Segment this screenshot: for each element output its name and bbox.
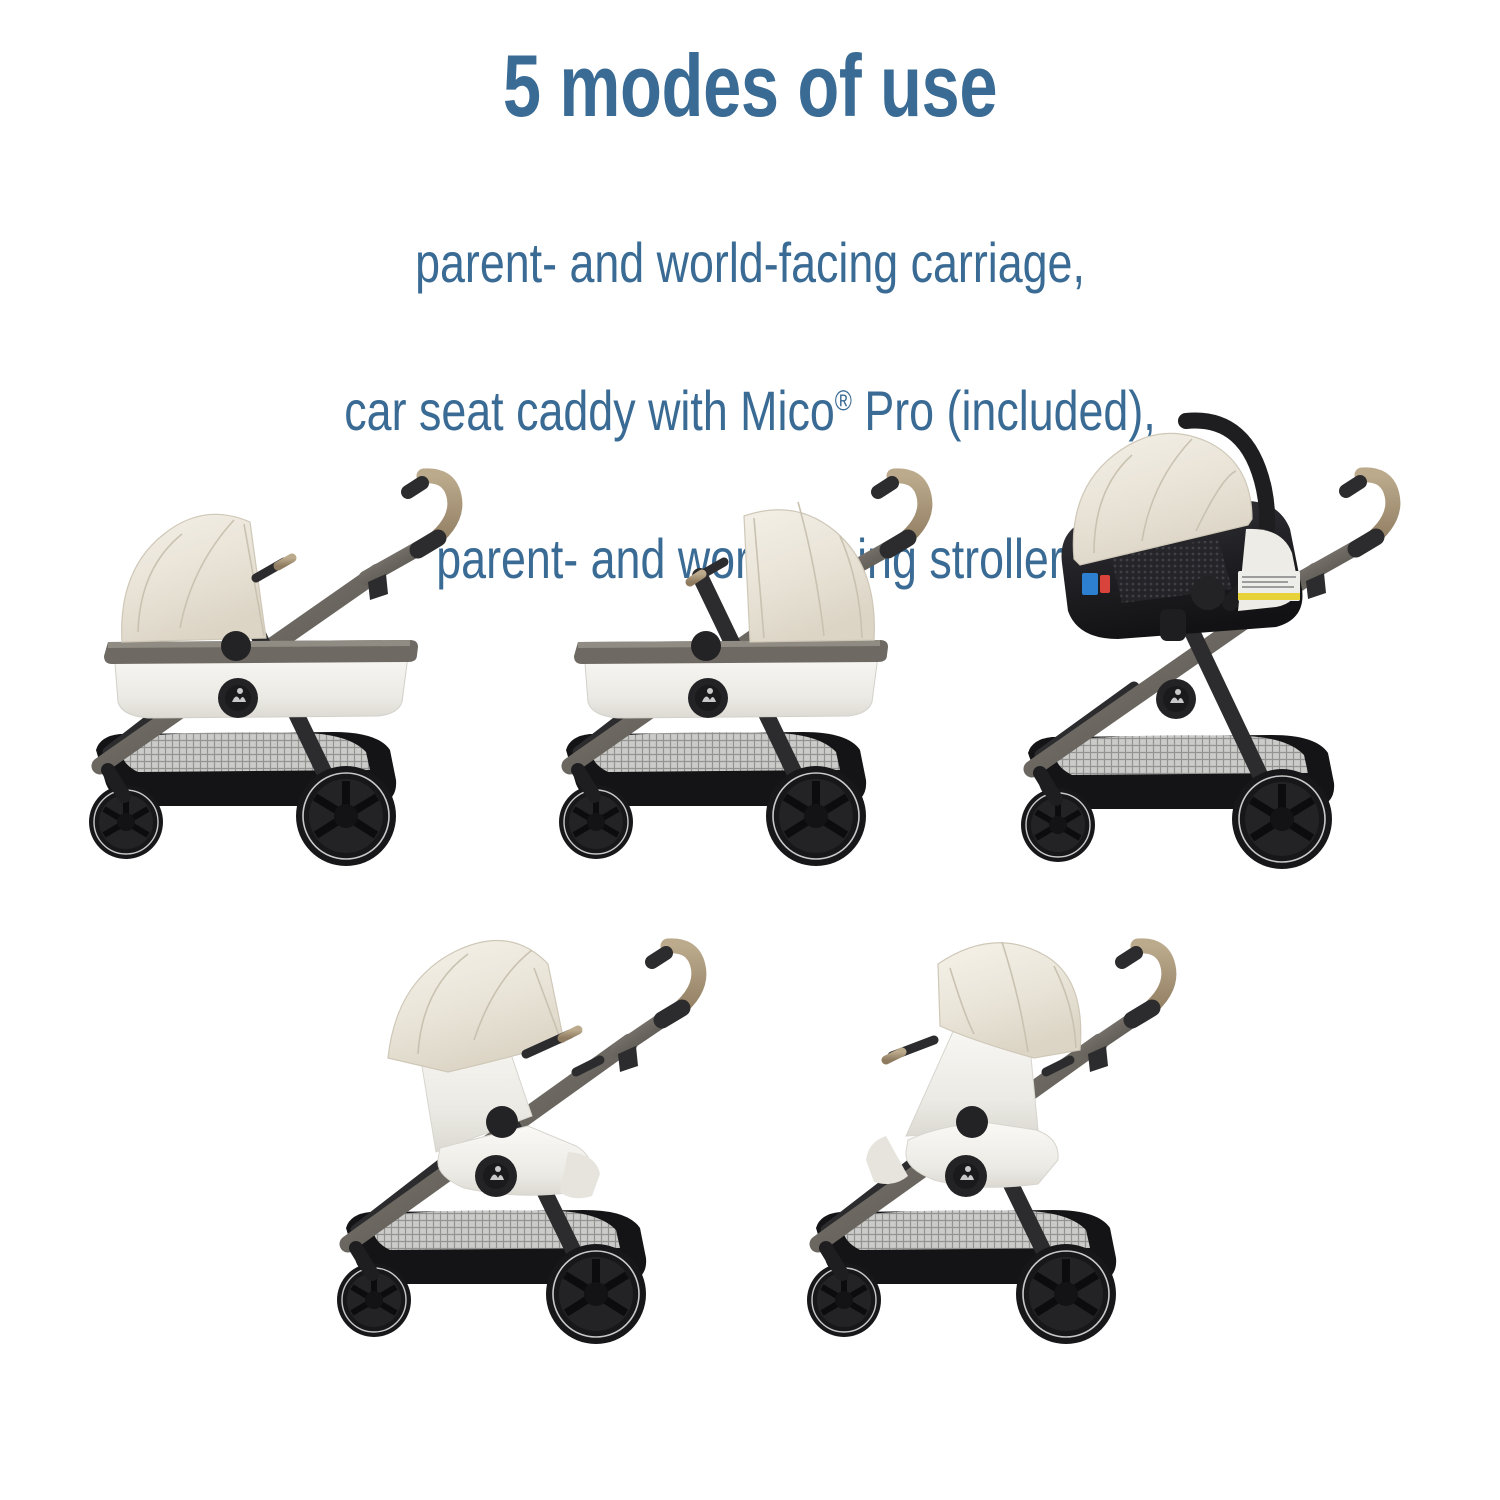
product-cell-world-facing-carriage bbox=[548, 450, 938, 870]
basket-mesh-panel bbox=[843, 1210, 1090, 1250]
car-seat-label-blue bbox=[1082, 573, 1098, 595]
rear-wheel bbox=[1232, 769, 1332, 869]
handle-clamp bbox=[418, 538, 438, 550]
canopy bbox=[744, 510, 874, 642]
car-seat-warning-stripe bbox=[1238, 593, 1300, 600]
product-cell-parent-facing-carriage bbox=[78, 450, 468, 870]
stroller-illustration-parent-facing-stroller bbox=[318, 930, 718, 1355]
bumper-bar-grip bbox=[886, 1052, 902, 1060]
product-cell-car-seat-caddy bbox=[1010, 413, 1410, 873]
rear-wheel bbox=[1016, 1244, 1116, 1344]
basket-mesh-panel bbox=[591, 732, 840, 772]
handle-clamp bbox=[888, 538, 908, 550]
basket-mesh-panel bbox=[373, 1210, 620, 1250]
handle-clamp bbox=[1356, 537, 1376, 549]
page-title: 5 modes of use bbox=[165, 0, 1335, 130]
stroller-illustration-parent-facing-carriage bbox=[78, 450, 468, 870]
stroller-illustration-car-seat-caddy bbox=[1010, 413, 1410, 873]
rear-wheel bbox=[766, 766, 866, 866]
car-seat-label-red bbox=[1100, 575, 1110, 593]
maxi-cosi-logo-dot bbox=[1175, 689, 1181, 695]
upper-hub-joint bbox=[486, 1106, 518, 1138]
upper-hub-joint bbox=[956, 1106, 988, 1138]
product-feature-graphic: 5 modes of use parent- and world-facing … bbox=[0, 0, 1500, 1500]
subtitle-line-1: parent- and world-facing carriage, bbox=[415, 231, 1085, 294]
stroller-illustration-world-facing-carriage bbox=[548, 450, 938, 870]
basket-mesh-panel bbox=[121, 732, 370, 772]
handle-clamp bbox=[1132, 1008, 1152, 1020]
product-cell-world-facing-stroller bbox=[788, 930, 1188, 1355]
maxi-cosi-logo-dot bbox=[495, 1166, 501, 1172]
upper-hub-joint bbox=[1191, 576, 1225, 610]
handle-end-cap bbox=[1122, 953, 1136, 962]
seat-footrest bbox=[866, 1136, 908, 1184]
product-cell-parent-facing-stroller bbox=[318, 930, 718, 1355]
bumper-bar-grip bbox=[562, 1030, 578, 1038]
canopy bbox=[122, 514, 266, 642]
car-seat-adapter-clamp bbox=[1160, 609, 1186, 641]
rear-wheel bbox=[546, 1244, 646, 1344]
upper-hub-joint bbox=[221, 631, 251, 661]
maxi-cosi-logo-dot bbox=[965, 1166, 971, 1172]
handle-end-cap bbox=[878, 483, 892, 492]
upper-hub-joint bbox=[691, 631, 721, 661]
maxi-cosi-logo-dot bbox=[237, 688, 243, 694]
handle-end-cap bbox=[652, 953, 666, 962]
handle-clamp bbox=[662, 1008, 682, 1020]
handle-end-cap bbox=[1346, 482, 1360, 491]
basket-mesh-panel bbox=[1055, 735, 1308, 775]
handle-end-cap bbox=[408, 483, 422, 492]
maxi-cosi-logo-dot bbox=[707, 688, 713, 694]
stroller-illustration-world-facing-stroller bbox=[788, 930, 1188, 1355]
rear-wheel bbox=[296, 766, 396, 866]
product-image-grid bbox=[0, 395, 1500, 1500]
